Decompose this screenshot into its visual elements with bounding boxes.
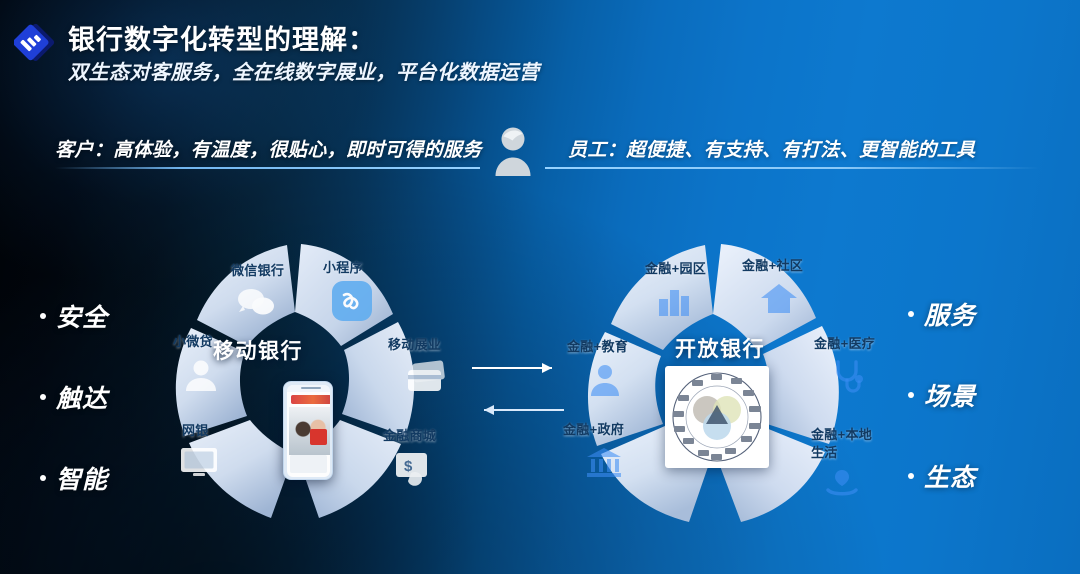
petal-label: 金融+政府	[563, 423, 624, 438]
stethoscope-icon	[829, 359, 865, 400]
petal-label: 移动展业	[388, 338, 441, 353]
petal-label-line2: 生活	[811, 446, 838, 461]
arrow-right-icon	[472, 363, 552, 373]
customer-persona-text: 客户：高体验，有温度，很贴心，即时可得的服务	[55, 135, 482, 162]
left-bullet-label: 触达	[56, 379, 108, 415]
petal-label: 网银	[182, 424, 209, 439]
left-bullet-label: 智能	[56, 460, 108, 496]
list-item: 智能	[40, 452, 108, 504]
person-education-icon	[587, 363, 623, 402]
list-item: 触达	[40, 371, 108, 423]
government-bank-icon	[585, 446, 623, 483]
bullet-dot-icon	[40, 475, 46, 481]
payment-card-hand-icon: $	[393, 450, 433, 493]
phone-promo-badge	[310, 429, 327, 445]
petal-label: 金融+社区	[742, 259, 803, 274]
employee-persona-text: 员工：超便捷、有支持、有打法、更智能的工具	[568, 135, 975, 162]
petal-label: 金融商城	[383, 429, 436, 444]
mini-program-icon	[331, 280, 373, 327]
ecosystem-venn-diagram-card	[665, 366, 769, 468]
petal-label: 金融+医疗	[814, 337, 875, 352]
service-hand-icon	[823, 466, 861, 503]
left-benefit-list: 安全 触达 智能	[40, 290, 108, 533]
persona-divider-right	[545, 167, 1040, 169]
user-avatar-icon	[490, 124, 536, 176]
bullet-dot-icon	[908, 392, 914, 398]
city-buildings-icon	[655, 285, 693, 322]
petal-label: 金融+教育	[567, 340, 628, 355]
left-bullet-label: 安全	[56, 298, 108, 334]
slide-canvas: 银行数字化转型的理解： 双生态对客服务，全在线数字展业，平台化数据运营 客户：高…	[0, 0, 1080, 574]
bidirectional-arrows	[468, 352, 568, 422]
list-item: 安全	[40, 290, 108, 342]
house-home-icon	[759, 281, 799, 320]
persona-divider-left	[55, 167, 480, 169]
wechat-bubble-icon	[236, 286, 276, 321]
bullet-dot-icon	[908, 473, 914, 479]
petal-label: 小微贷	[173, 335, 213, 350]
right-bullet-label: 服务	[924, 296, 976, 332]
arrow-left-icon	[484, 405, 564, 415]
phone-footer-bar	[290, 455, 327, 473]
mobile-phone-mockup	[283, 381, 333, 480]
brand-logo-icon	[14, 18, 60, 64]
credit-cards-icon	[405, 360, 447, 399]
petal-label: 金融+本地	[811, 428, 872, 443]
desktop-monitor-icon	[177, 446, 221, 485]
petal-label: 金融+园区	[645, 262, 706, 277]
open-bank-center-label: 开放银行	[675, 333, 765, 363]
mobile-bank-cluster: 微信银行 小程序 小微贷	[135, 228, 475, 528]
phone-screen	[287, 385, 330, 477]
petal-label: 微信银行	[231, 264, 284, 279]
right-bullet-label: 生态	[924, 458, 976, 494]
bullet-dot-icon	[40, 313, 46, 319]
bullet-dot-icon	[908, 311, 914, 317]
list-item: 生态	[908, 450, 976, 502]
phone-status-bar	[287, 385, 330, 392]
page-title: 银行数字化转型的理解：	[68, 18, 376, 57]
petal-label: 小程序	[323, 261, 363, 276]
mobile-bank-center-label: 移动银行	[213, 335, 303, 365]
page-subtitle: 双生态对客服务，全在线数字展业，平台化数据运营	[68, 56, 540, 85]
right-benefit-list: 服务 场景 生态	[908, 288, 976, 531]
phone-promo-banner	[291, 395, 330, 404]
list-item: 服务	[908, 288, 976, 340]
svg-text:$: $	[404, 458, 413, 475]
list-item: 场景	[908, 369, 976, 421]
bullet-dot-icon	[40, 394, 46, 400]
right-bullet-label: 场景	[924, 377, 976, 413]
